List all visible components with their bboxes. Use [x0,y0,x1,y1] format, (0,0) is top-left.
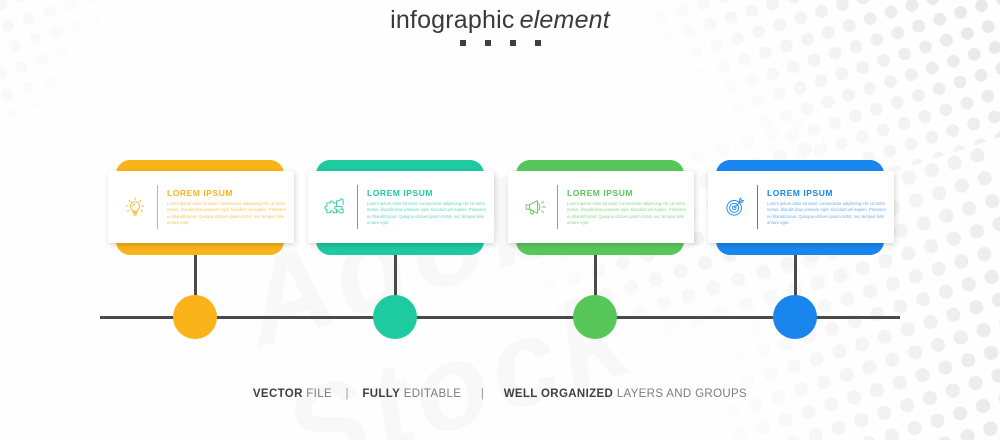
target-arrow-icon [720,192,750,222]
step-card-2[interactable]: LOREM IPSUM Lorem ipsum dolor sit amet, … [308,160,498,255]
footer-separator: | [336,388,359,400]
step-divider-1 [157,185,158,229]
timeline-circle-2[interactable] [373,295,417,339]
header: infographicelement [0,0,1000,46]
footer-item2-bold: FULLY [362,388,400,400]
title-dot [535,40,541,46]
step-text-block-1: LOREM IPSUM Lorem ipsum dolor sit amet, … [167,188,288,225]
step-white-card-2: LOREM IPSUM Lorem ipsum dolor sit amet, … [308,171,494,243]
timeline-circle-1[interactable] [173,295,217,339]
infographic-canvas: Adobe Stock infographicelement [0,0,1000,440]
timeline-circle-4[interactable] [773,295,817,339]
step-white-card-4: LOREM IPSUM Lorem ipsum dolor sit amet, … [708,171,894,243]
step-body-3: Lorem ipsum dolor sit amet, consectetur … [567,201,688,225]
title-dot [510,40,516,46]
megaphone-icon [520,192,550,222]
footer-separator: | [465,388,500,400]
title-dot-decoration [0,40,1000,46]
step-body-2: Lorem ipsum dolor sit amet, consectetur … [367,201,488,225]
footer-item1-bold: VECTOR [253,388,303,400]
step-body-1: Lorem ipsum dolor sit amet, consectetur … [167,201,288,225]
footer-item3-bold: WELL ORGANIZED [504,388,613,400]
step-white-card-1: LOREM IPSUM Lorem ipsum dolor sit amet, … [108,171,294,243]
timeline-circle-3[interactable] [573,295,617,339]
step-body-4: Lorem ipsum dolor sit amet, consectetur … [767,201,888,225]
step-text-block-3: LOREM IPSUM Lorem ipsum dolor sit amet, … [567,188,688,225]
step-card-4[interactable]: LOREM IPSUM Lorem ipsum dolor sit amet, … [708,160,898,255]
step-title-3: LOREM IPSUM [567,188,688,198]
step-divider-4 [757,185,758,229]
step-divider-3 [557,185,558,229]
title-dot [460,40,466,46]
title-dot [485,40,491,46]
page-title: infographicelement [0,5,1000,35]
step-text-block-4: LOREM IPSUM Lorem ipsum dolor sit amet, … [767,188,888,225]
footer-features: VECTOR FILE | FULLY EDITABLE | WELL ORGA… [0,388,1000,400]
step-text-block-2: LOREM IPSUM Lorem ipsum dolor sit amet, … [367,188,488,225]
footer-item3-rest: LAYERS AND GROUPS [617,388,747,400]
step-divider-2 [357,185,358,229]
footer-item2-rest: EDITABLE [404,388,462,400]
step-white-card-3: LOREM IPSUM Lorem ipsum dolor sit amet, … [508,171,694,243]
footer-item1-rest: FILE [306,388,332,400]
step-card-3[interactable]: LOREM IPSUM Lorem ipsum dolor sit amet, … [508,160,698,255]
lightbulb-icon [120,192,150,222]
step-title-2: LOREM IPSUM [367,188,488,198]
title-regular-part: infographic [390,6,515,34]
title-italic-part: element [520,6,610,34]
puzzle-piece-icon [320,192,350,222]
step-card-1[interactable]: LOREM IPSUM Lorem ipsum dolor sit amet, … [108,160,298,255]
step-title-4: LOREM IPSUM [767,188,888,198]
step-title-1: LOREM IPSUM [167,188,288,198]
